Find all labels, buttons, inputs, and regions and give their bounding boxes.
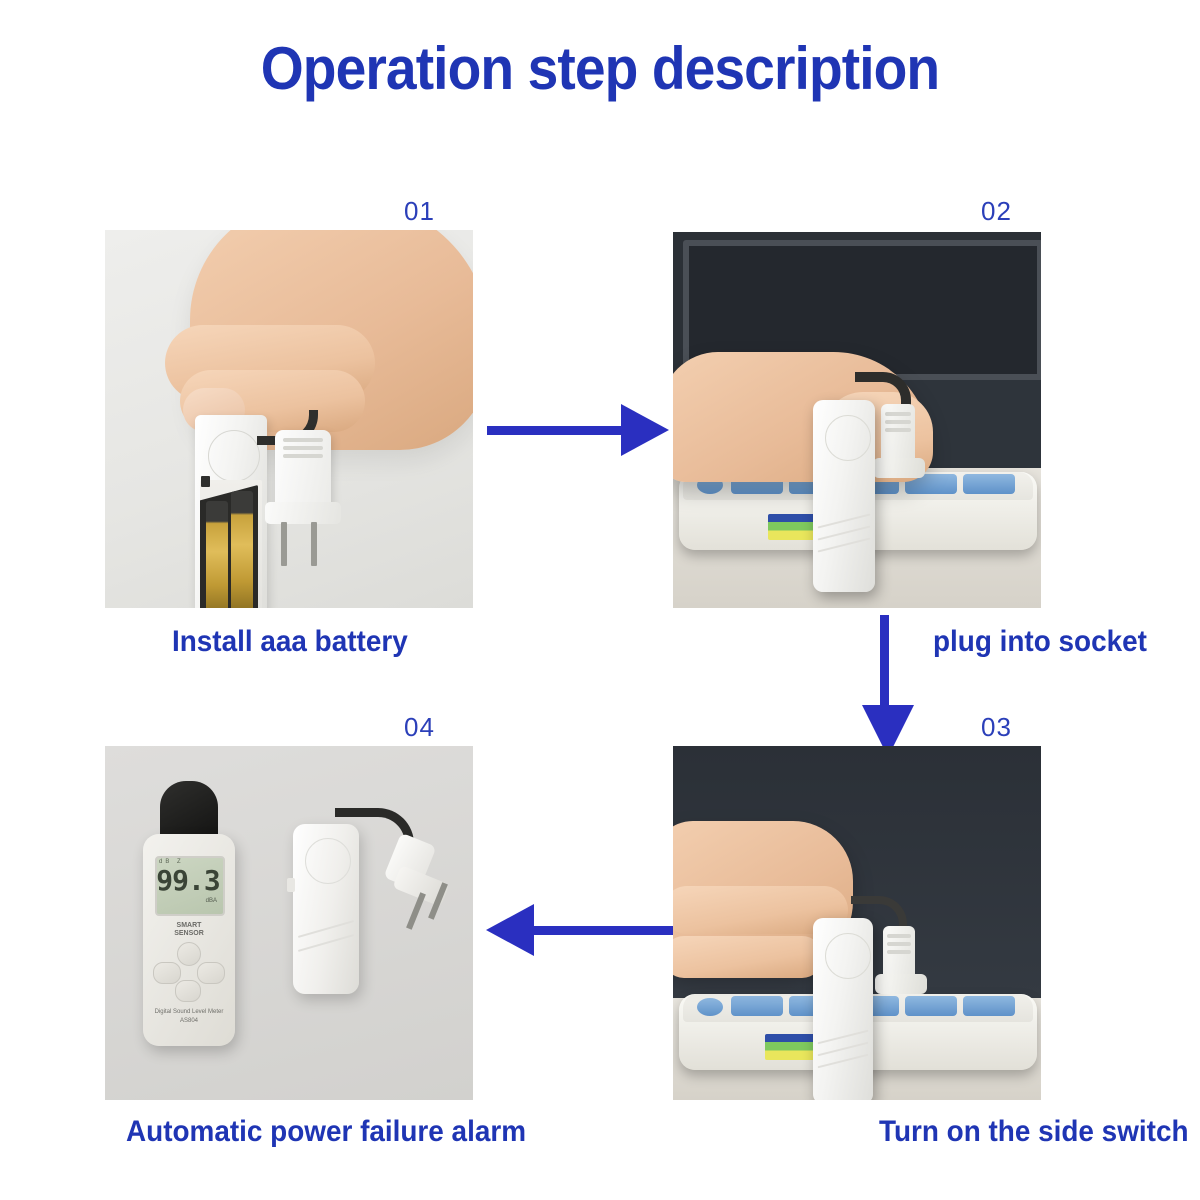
alarm-swoosh	[298, 934, 354, 952]
aaa-battery-2	[231, 491, 253, 608]
model-number: AS804	[143, 1017, 235, 1026]
power-button	[697, 998, 723, 1016]
plug-ridge	[885, 428, 911, 432]
alarm-swoosh	[818, 1042, 869, 1057]
step-number-03: 03	[981, 712, 1012, 743]
brand-label: SMART SENSOR	[149, 922, 229, 938]
step-number-01: 01	[404, 196, 435, 227]
plug-ridge	[887, 950, 911, 954]
plug-ridge	[283, 438, 323, 442]
step-caption-01: Install aaa battery	[172, 625, 408, 659]
plug-ridge	[885, 420, 911, 424]
arrow-head-left-icon	[486, 904, 534, 956]
photo-power-failure-alarm: dB Z 99.3 dBA SMART SENSOR Digital Sound…	[105, 746, 473, 1100]
aaa-battery-1	[206, 501, 228, 608]
plug-base	[873, 458, 925, 478]
backlight-button[interactable]	[175, 980, 201, 1002]
brand-line-2: SENSOR	[149, 930, 229, 938]
step-caption-03: Turn on the side switch	[879, 1115, 1189, 1149]
power-button[interactable]	[177, 942, 201, 966]
step-caption-04: Automatic power failure alarm	[126, 1115, 526, 1149]
model-label: Digital Sound Level Meter AS804	[143, 1008, 235, 1026]
plug-base	[875, 974, 927, 994]
step-caption-02: plug into socket	[933, 625, 1147, 659]
lcd-reading: 99.3	[155, 864, 221, 897]
alarm-speaker-circle	[825, 415, 871, 461]
arrow-shaft	[880, 615, 889, 715]
alarm-swoosh	[818, 1030, 869, 1045]
plug-prong	[311, 522, 317, 566]
thumb	[673, 936, 823, 978]
alarm-swoosh	[818, 537, 871, 552]
max-min-button[interactable]	[153, 962, 181, 984]
alarm-speaker-circle	[825, 933, 871, 979]
plug-ridge	[887, 934, 911, 938]
page-title: Operation step description	[48, 34, 1152, 103]
power-plug-body	[881, 404, 915, 466]
plug-ridge	[283, 446, 323, 450]
operation-steps-diagram: Operation step description 01 Install aa…	[0, 0, 1200, 1200]
arrow-shaft	[487, 426, 632, 435]
socket	[963, 474, 1015, 494]
plug-prong	[281, 522, 287, 566]
step-number-04: 04	[404, 712, 435, 743]
power-plug-body	[275, 430, 331, 510]
arrow-step1-to-step2	[487, 400, 672, 460]
side-switch	[201, 476, 210, 487]
alarm-speaker-circle	[208, 430, 260, 482]
socket	[731, 996, 783, 1016]
alarm-swoosh	[818, 1054, 869, 1069]
plug-base	[265, 502, 341, 524]
plug-ridge	[283, 454, 323, 458]
arrow-head-right-icon	[621, 404, 669, 456]
socket	[905, 996, 957, 1016]
arrow-step3-to-step4	[472, 900, 684, 960]
plug-ridge	[885, 412, 911, 416]
side-switch	[287, 878, 295, 892]
plug-ridge	[887, 942, 911, 946]
arrow-shaft	[532, 926, 684, 935]
battery-compartment	[200, 485, 258, 608]
product-name: Digital Sound Level Meter	[143, 1008, 235, 1017]
socket	[963, 996, 1015, 1016]
hold-button[interactable]	[197, 962, 225, 984]
arrow-step2-to-step3	[858, 615, 918, 760]
step-number-02: 02	[981, 196, 1012, 227]
power-strip-label	[765, 1034, 819, 1060]
photo-plug-into-socket	[673, 232, 1041, 608]
brand-line-1: SMART	[149, 922, 229, 930]
lcd-unit: dBA	[155, 898, 217, 904]
photo-turn-on-side-switch	[673, 746, 1041, 1100]
photo-install-battery	[105, 230, 473, 608]
